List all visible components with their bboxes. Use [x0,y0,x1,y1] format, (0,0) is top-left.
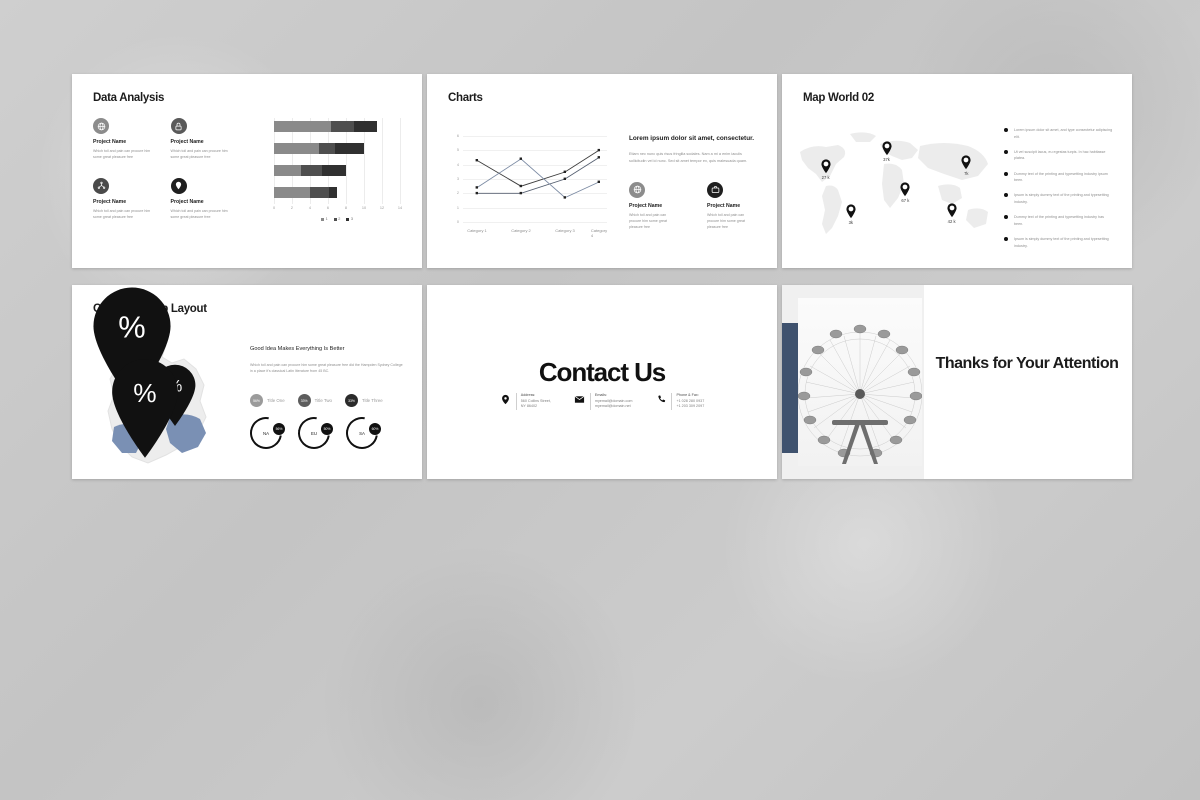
globe-icon [629,182,645,198]
map-pin[interactable]: 42 k [946,202,957,223]
chart-legend: 1 2 3 [274,217,400,221]
project-item[interactable]: Project Name Which toil and pain can pro… [629,182,677,231]
bullet-dot-icon [1004,172,1008,176]
briefcase-icon [707,182,723,198]
section-body: Etiam nec nunc quis risus fringilla soda… [629,151,757,165]
project-name: Project Name [93,139,159,145]
location-pin-icon [500,393,512,405]
project-body: Which toil and pain can procure him some… [707,212,755,231]
svg-text:%: % [133,378,156,408]
project-item[interactable]: Project Name Which toil and pain can pro… [93,118,159,161]
donut-value: 56% [273,423,285,435]
donut-chart[interactable]: NA 56% [250,417,282,449]
project-item[interactable]: Project Name Which toil and pain can pro… [93,178,159,221]
world-map[interactable]: 27 k 37k 7k 67 k 3k 42 k [792,124,1002,244]
bar-row [274,143,364,154]
project-body: Which toil and pain can procure him some… [93,208,159,221]
legend-item: 2 [334,217,341,221]
colombia-description: Good Idea Makes Everything Is Better Whi… [250,345,405,449]
contact-label: Address: [521,393,551,397]
bullet-dot-icon [1004,215,1008,219]
location-pin-icon [946,202,957,217]
contact-value: NY 86402 [521,404,551,410]
bar-plot-area: July June May April [274,118,400,204]
line-x-tick: Category 2 [511,228,531,233]
list-item: Ipsum is simply dummy text of the printi… [1004,236,1114,249]
badge-label: Title One [267,398,285,403]
charts-description: Lorem ipsum dolor sit amet, consectetur.… [629,134,757,230]
section-body: Which toil and pain can procure him some… [250,362,405,376]
line-x-tick: Category 4 [591,228,607,238]
bar-row [274,187,337,198]
badge-value: 33% [298,394,311,407]
map-pin[interactable]: 3k [845,204,856,225]
legend-item: 3 [346,217,353,221]
slide-grid: Data Analysis Project Name Which toil an… [72,74,1128,479]
bullet-list: Lorem ipsum dolor sit amet, and type con… [1004,127,1114,258]
donut-value: 50% [321,423,333,435]
project-item[interactable]: Project Name Which toil and pain can pro… [171,178,237,221]
svg-text:%: % [118,310,145,345]
contact-list: Address: 560 Collins Street, NY 86402 Em… [427,393,777,410]
list-item: Lorem ipsum dolor sit amet, and type con… [1004,127,1114,140]
title-badge-row: 56% Title One 33% Title Two 33% Title Th… [250,394,405,407]
donut-chart[interactable]: EU 50% [298,417,330,449]
project-name: Project Name [171,139,237,145]
line-x-tick: Category 1 [467,228,487,233]
map-pin[interactable]: 7k [961,154,972,175]
page-title: Contact Us [427,357,777,388]
envelope-icon [574,393,586,405]
list-item: Ut vel suscipit lacus, eu egestas turpis… [1004,149,1114,162]
phone-icon [655,393,667,405]
world-map-shape [792,124,1002,244]
slide-map-world[interactable]: Map World 02 27 k 3 [782,74,1132,268]
ferris-wheel-photo [798,298,922,466]
location-pin-icon: % [106,356,185,461]
line-chart: 6 5 4 3 2 1 0 Category 1 Category 2 Cate… [447,136,607,241]
slide-colombia-map[interactable]: Colombia Map Layout % 8% % 9% % [72,285,422,479]
map-pin[interactable]: 27 k [820,159,831,180]
bullet-dot-icon [1004,237,1008,241]
badge-value: 33% [345,394,358,407]
map-pin[interactable]: % 4% [106,356,185,461]
page-title: Data Analysis [93,92,164,104]
slide-data-analysis[interactable]: Data Analysis Project Name Which toil an… [72,74,422,268]
globe-icon [93,118,109,134]
page-title: Thanks for Your Attention [932,353,1122,375]
bar-row [274,121,377,132]
project-list: Project Name Which toil and pain can pro… [93,118,236,220]
lock-icon [171,118,187,134]
donut-chart[interactable]: SA 60% [346,417,378,449]
contact-label: Phone & Fax: [676,393,704,397]
pin-icon [171,178,187,194]
location-pin-icon [961,154,972,169]
contact-item-email[interactable]: Emails: myemail@domain.com myemail@domai… [574,393,633,410]
contact-value: +1 203 309 2097 [676,404,704,410]
page-title: Charts [448,92,483,104]
badge-label: Title Two [315,398,332,403]
contact-item-address[interactable]: Address: 560 Collins Street, NY 86402 [500,393,551,410]
contact-label: Emails: [595,393,633,397]
bar-row [274,165,346,176]
project-body: Which toil and pain can procure him some… [171,208,237,221]
ferris-wheel-illustration [798,298,922,466]
list-item: Dummy text of the printing and typesetti… [1004,214,1114,227]
list-item: Ipsum is simply dummy text of the printi… [1004,192,1114,205]
title-badge[interactable]: 33% Title Two [298,394,332,407]
section-heading: Good Idea Makes Everything Is Better [250,345,405,355]
map-pin[interactable]: 37k [881,141,892,162]
project-item[interactable]: Project Name Which toil and pain can pro… [171,118,237,161]
project-body: Which toil and pain can procure him some… [93,148,159,161]
bullet-dot-icon [1004,193,1008,197]
project-name: Project Name [707,203,755,209]
stacked-bar-chart: July June May April 0 2 [250,118,402,226]
project-item[interactable]: Project Name Which toil and pain can pro… [707,182,755,231]
line-plot-area: 6 5 4 3 2 1 0 [463,136,607,222]
bar-x-axis: 0 2 4 6 8 10 12 14 [274,206,400,214]
title-badge[interactable]: 33% Title Three [345,394,383,407]
line-series-paths [463,136,607,222]
location-pin-icon [820,159,831,174]
bullet-dot-icon [1004,128,1008,132]
network-icon [93,178,109,194]
slide-thanks[interactable]: Thanks for Your Attention [782,285,1132,479]
location-pin-icon [900,182,911,197]
contact-item-phone[interactable]: Phone & Fax: +1 028 280 0937 +1 203 309 … [655,393,704,410]
legend-item: 1 [321,217,328,221]
slide-charts[interactable]: Charts [427,74,777,268]
location-pin-icon [881,141,892,156]
contact-value: myemail@domain.net [595,404,633,410]
title-badge[interactable]: 56% Title One [250,394,285,407]
donut-row: NA 56% EU 50% SA 60% [250,417,405,449]
project-name: Project Name [93,199,159,205]
page-title: Map World 02 [803,92,874,104]
project-name: Project Name [629,203,677,209]
project-name: Project Name [171,199,237,205]
project-body: Which toil and pain can procure him some… [171,148,237,161]
location-pin-icon [845,204,856,219]
project-body: Which toil and pain can procure him some… [629,212,677,231]
donut-value: 60% [369,423,381,435]
slide-contact-us[interactable]: Contact Us Address: 560 Collins Street, … [427,285,777,479]
line-x-tick: Category 3 [555,228,575,233]
project-list: Project Name Which toil and pain can pro… [629,182,757,231]
colombia-map[interactable]: % 8% % 9% % 4% [88,329,224,479]
section-heading: Lorem ipsum dolor sit amet, consectetur. [629,134,757,144]
badge-value: 56% [250,394,263,407]
bullet-dot-icon [1004,150,1008,154]
list-item: Dummy text of the printing and typesetti… [1004,171,1114,184]
badge-label: Title Three [362,398,383,403]
map-pin[interactable]: 67 k [900,182,911,203]
